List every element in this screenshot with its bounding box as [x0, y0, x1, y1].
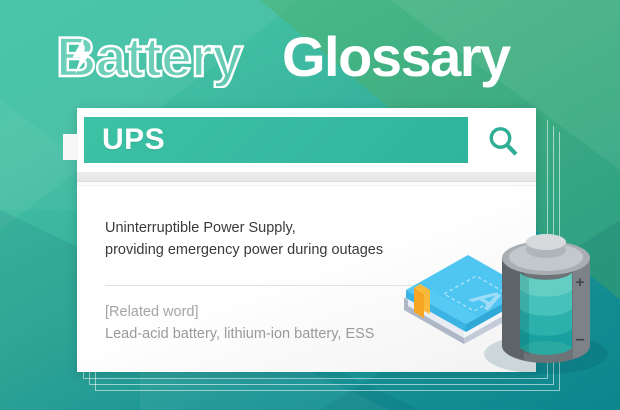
search-bar: UPS	[77, 108, 536, 172]
battery-negative-mark: –	[575, 329, 584, 348]
definition-line-1: Uninterruptible Power Supply,	[105, 217, 435, 239]
definition-text: Uninterruptible Power Supply, providing …	[105, 217, 435, 262]
battery-terminal-nub	[63, 134, 78, 160]
poster-canvas: Battery Glossary UPS	[0, 0, 620, 410]
related-words-label: [Related word]	[105, 301, 445, 323]
search-button[interactable]	[482, 120, 524, 162]
related-words-block: [Related word] Lead-acid battery, lithiu…	[105, 301, 445, 346]
page-title: Battery Glossary	[0, 26, 620, 88]
search-query-text: UPS	[102, 125, 165, 155]
battery-positive-mark: +	[576, 274, 585, 291]
battery-cell-icon: + –	[502, 234, 590, 363]
header-separator	[77, 172, 536, 182]
search-icon	[486, 124, 520, 158]
title-word-glossary: Glossary	[282, 26, 511, 88]
search-input[interactable]: UPS	[84, 117, 468, 163]
illustration: A	[398, 228, 620, 388]
related-words-list: Lead-acid battery, lithium-ion battery, …	[105, 323, 445, 345]
definition-line-2: providing emergency power during outages	[105, 239, 435, 261]
